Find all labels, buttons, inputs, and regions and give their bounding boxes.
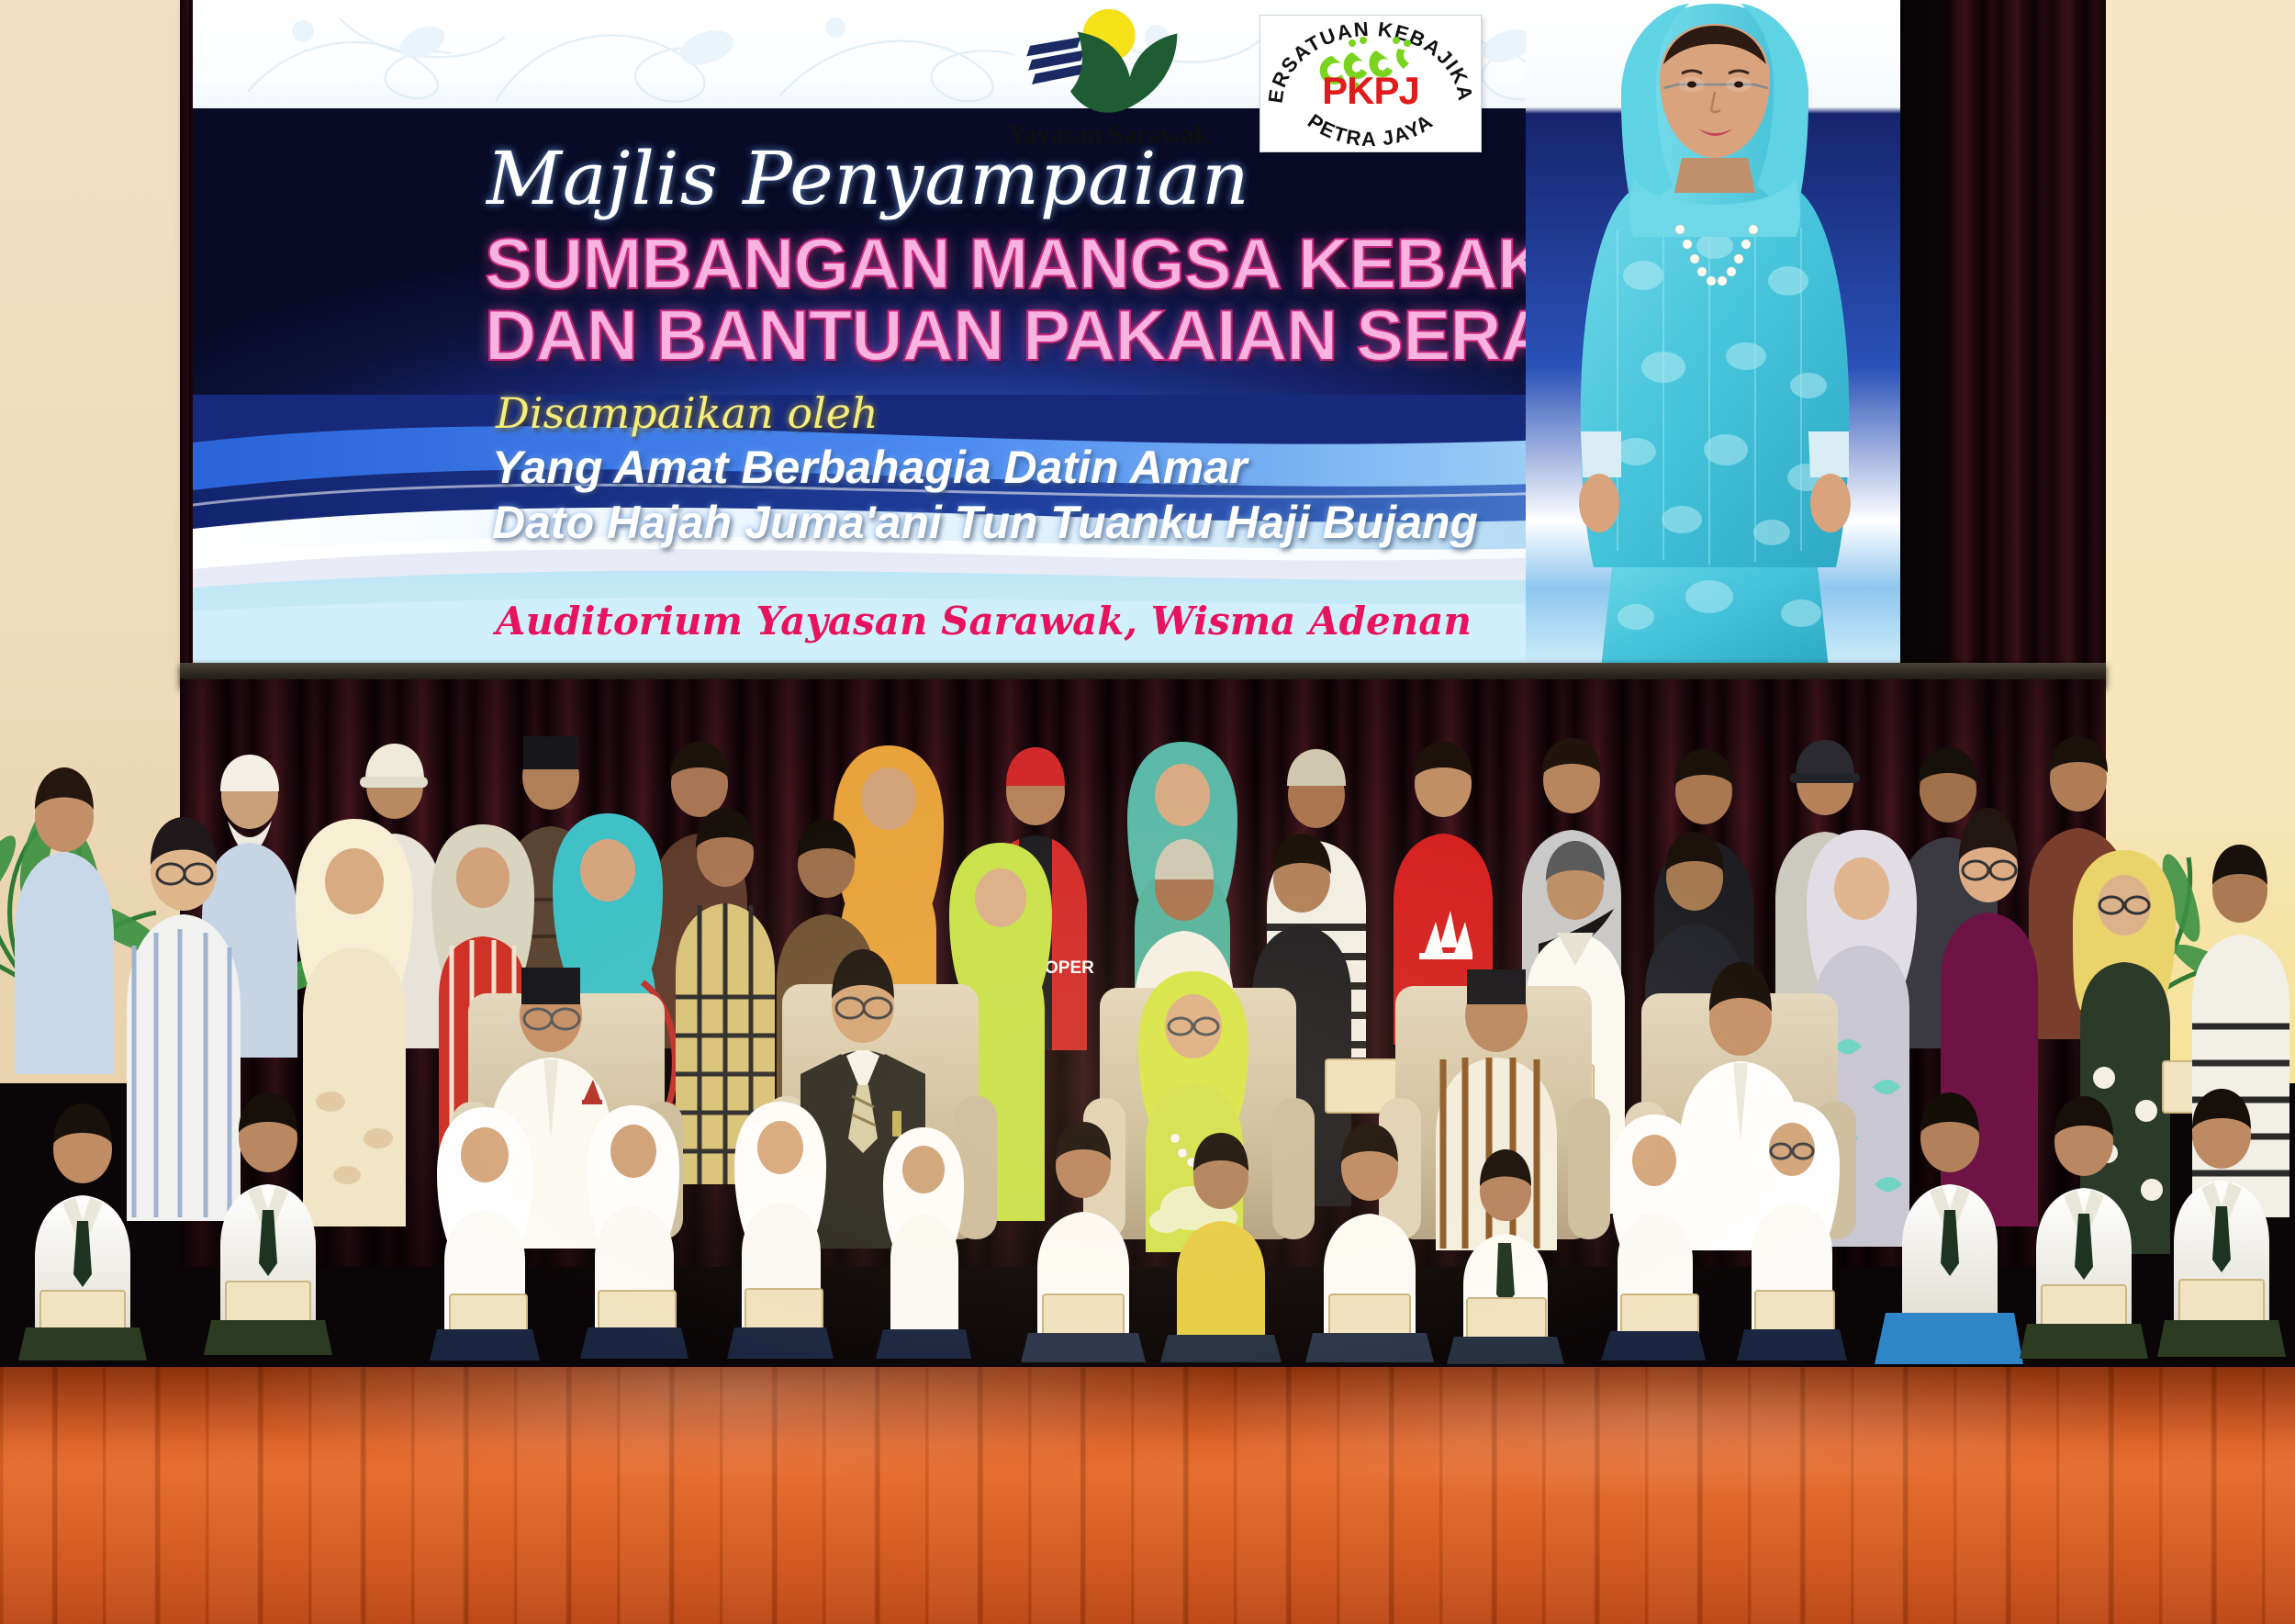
yayasan-sarawak-logo: Yayasan Sarawak — [984, 6, 1232, 152]
banner-presented-by-label: Disampaikan oleh — [496, 388, 879, 438]
pkpj-mark-icon: PERSATUAN KEBAJIKAN PETRA JAYA PKPJ — [1260, 16, 1481, 151]
honoree-portrait — [1526, 0, 1900, 668]
event-banner: Majlis Penyampaian SUMBANGAN MANGSA KEBA… — [193, 0, 1900, 668]
child — [1601, 1114, 1706, 1361]
group-photo-people: MINI COOPER — [0, 707, 2295, 1368]
yayasan-sarawak-label: Yayasan Sarawak — [984, 119, 1232, 151]
pkpj-logo: PERSATUAN KEBAJIKAN PETRA JAYA PKPJ — [1259, 15, 1482, 152]
banner-venue-text: Auditorium Yayasan Sarawak, Wisma Adenan — [496, 599, 1472, 644]
svg-text:PETRA JAYA: PETRA JAYA — [1304, 109, 1438, 151]
event-photograph: Majlis Penyampaian SUMBANGAN MANGSA KEBA… — [0, 0, 2295, 1624]
banner-honoree-line2: Dato Hajah Juma'ani Tun Tuanku Haji Buja… — [492, 496, 1478, 549]
child — [430, 1107, 540, 1361]
floor-reflection — [0, 1367, 2295, 1624]
svg-text:PKPJ: PKPJ — [1322, 69, 1419, 112]
banner-honoree-line1: Yang Amat Berbahagia Datin Amar — [492, 441, 1247, 494]
yayasan-sarawak-mark-icon — [984, 6, 1232, 119]
